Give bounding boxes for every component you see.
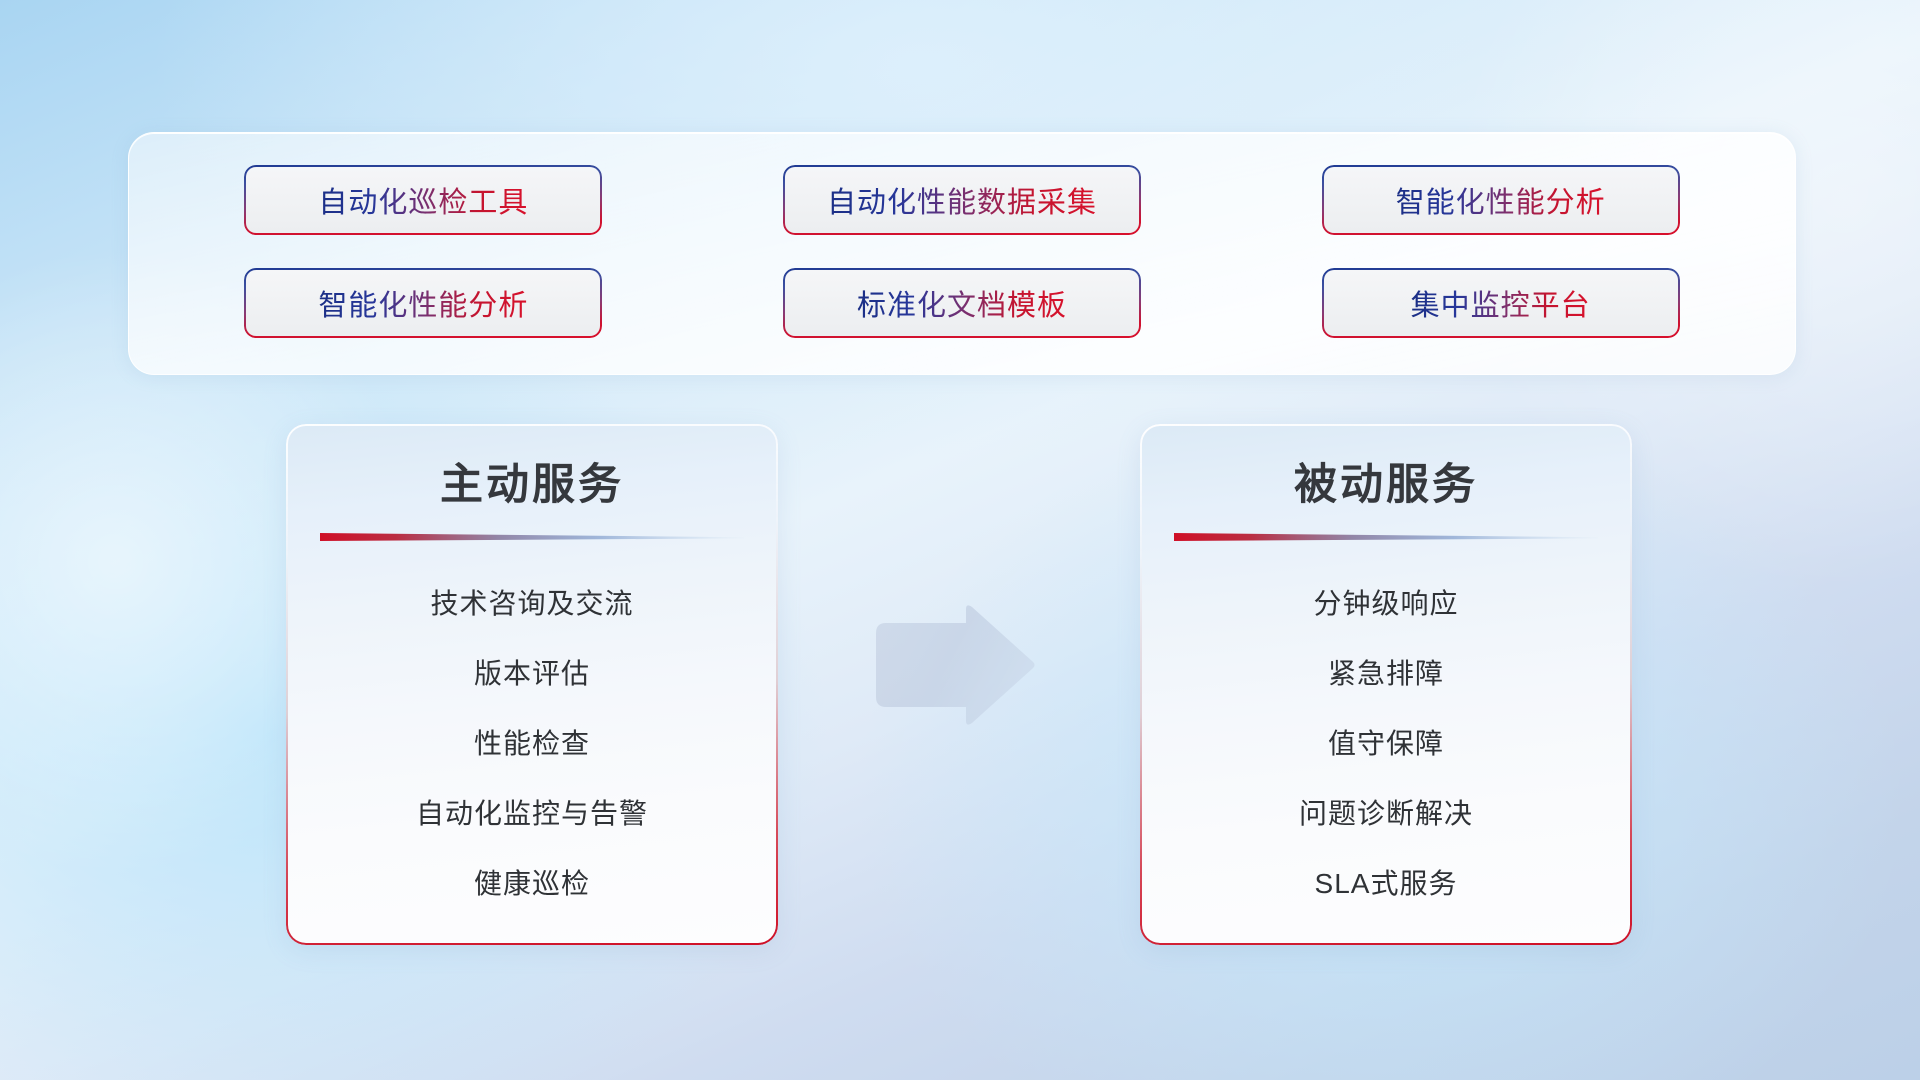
list-item: 版本评估 bbox=[474, 639, 590, 709]
service-card-reactive-list: 分钟级响应 紧急排障 值守保障 问题诊断解决 SLA式服务 bbox=[1142, 569, 1630, 919]
capability-pill-2[interactable]: 自动化性能数据采集 bbox=[783, 165, 1141, 235]
capability-pill-5[interactable]: 标准化文档模板 bbox=[783, 268, 1141, 338]
list-item: 技术咨询及交流 bbox=[430, 569, 633, 639]
card-divider-rule bbox=[1174, 531, 1598, 543]
capability-pill-6[interactable]: 集中监控平台 bbox=[1322, 268, 1680, 338]
capability-pill-2-inner: 自动化性能数据采集 bbox=[785, 167, 1139, 233]
capability-pill-1-label: 自动化巡检工具 bbox=[318, 179, 528, 221]
capability-panel: 自动化巡检工具 自动化性能数据采集 智能化性能分析 智能化性能分析 标准化文档模… bbox=[128, 132, 1796, 375]
service-card-proactive-list: 技术咨询及交流 版本评估 性能检查 自动化监控与告警 健康巡检 bbox=[288, 569, 776, 919]
service-card-proactive-body: 主动服务 bbox=[288, 426, 776, 943]
capability-pill-2-label: 自动化性能数据采集 bbox=[827, 179, 1097, 221]
service-card-reactive-title: 被动服务 bbox=[1294, 462, 1478, 509]
capability-pill-4-inner: 智能化性能分析 bbox=[246, 270, 600, 336]
arrow-right-icon bbox=[868, 605, 1038, 725]
list-item: SLA式服务 bbox=[1315, 849, 1458, 919]
capability-pill-5-label: 标准化文档模板 bbox=[857, 282, 1067, 324]
list-item: 紧急排障 bbox=[1328, 639, 1444, 709]
capability-pill-5-inner: 标准化文档模板 bbox=[785, 270, 1139, 336]
capability-pill-4-label: 智能化性能分析 bbox=[318, 282, 528, 324]
capability-pill-1[interactable]: 自动化巡检工具 bbox=[244, 165, 602, 235]
capability-pill-6-label: 集中监控平台 bbox=[1411, 282, 1591, 324]
capability-pill-3-inner: 智能化性能分析 bbox=[1324, 167, 1678, 233]
service-card-proactive[interactable]: 主动服务 bbox=[286, 424, 778, 945]
list-item: 分钟级响应 bbox=[1313, 569, 1458, 639]
service-card-reactive-body: 被动服务 bbox=[1142, 426, 1630, 943]
list-item: 性能检查 bbox=[474, 709, 590, 779]
slide-canvas: 自动化巡检工具 自动化性能数据采集 智能化性能分析 智能化性能分析 标准化文档模… bbox=[0, 0, 1920, 1080]
card-divider-rule bbox=[320, 531, 744, 543]
list-item: 健康巡检 bbox=[474, 849, 590, 919]
list-item: 值守保障 bbox=[1328, 709, 1444, 779]
capability-pill-3-label: 智能化性能分析 bbox=[1396, 179, 1606, 221]
list-item: 问题诊断解决 bbox=[1299, 779, 1473, 849]
service-card-proactive-title: 主动服务 bbox=[440, 462, 624, 509]
capability-pill-3[interactable]: 智能化性能分析 bbox=[1322, 165, 1680, 235]
service-card-reactive[interactable]: 被动服务 bbox=[1140, 424, 1632, 945]
capability-pill-1-inner: 自动化巡检工具 bbox=[246, 167, 600, 233]
capability-pill-4[interactable]: 智能化性能分析 bbox=[244, 268, 602, 338]
capability-pill-6-inner: 集中监控平台 bbox=[1324, 270, 1678, 336]
list-item: 自动化监控与告警 bbox=[416, 779, 648, 849]
